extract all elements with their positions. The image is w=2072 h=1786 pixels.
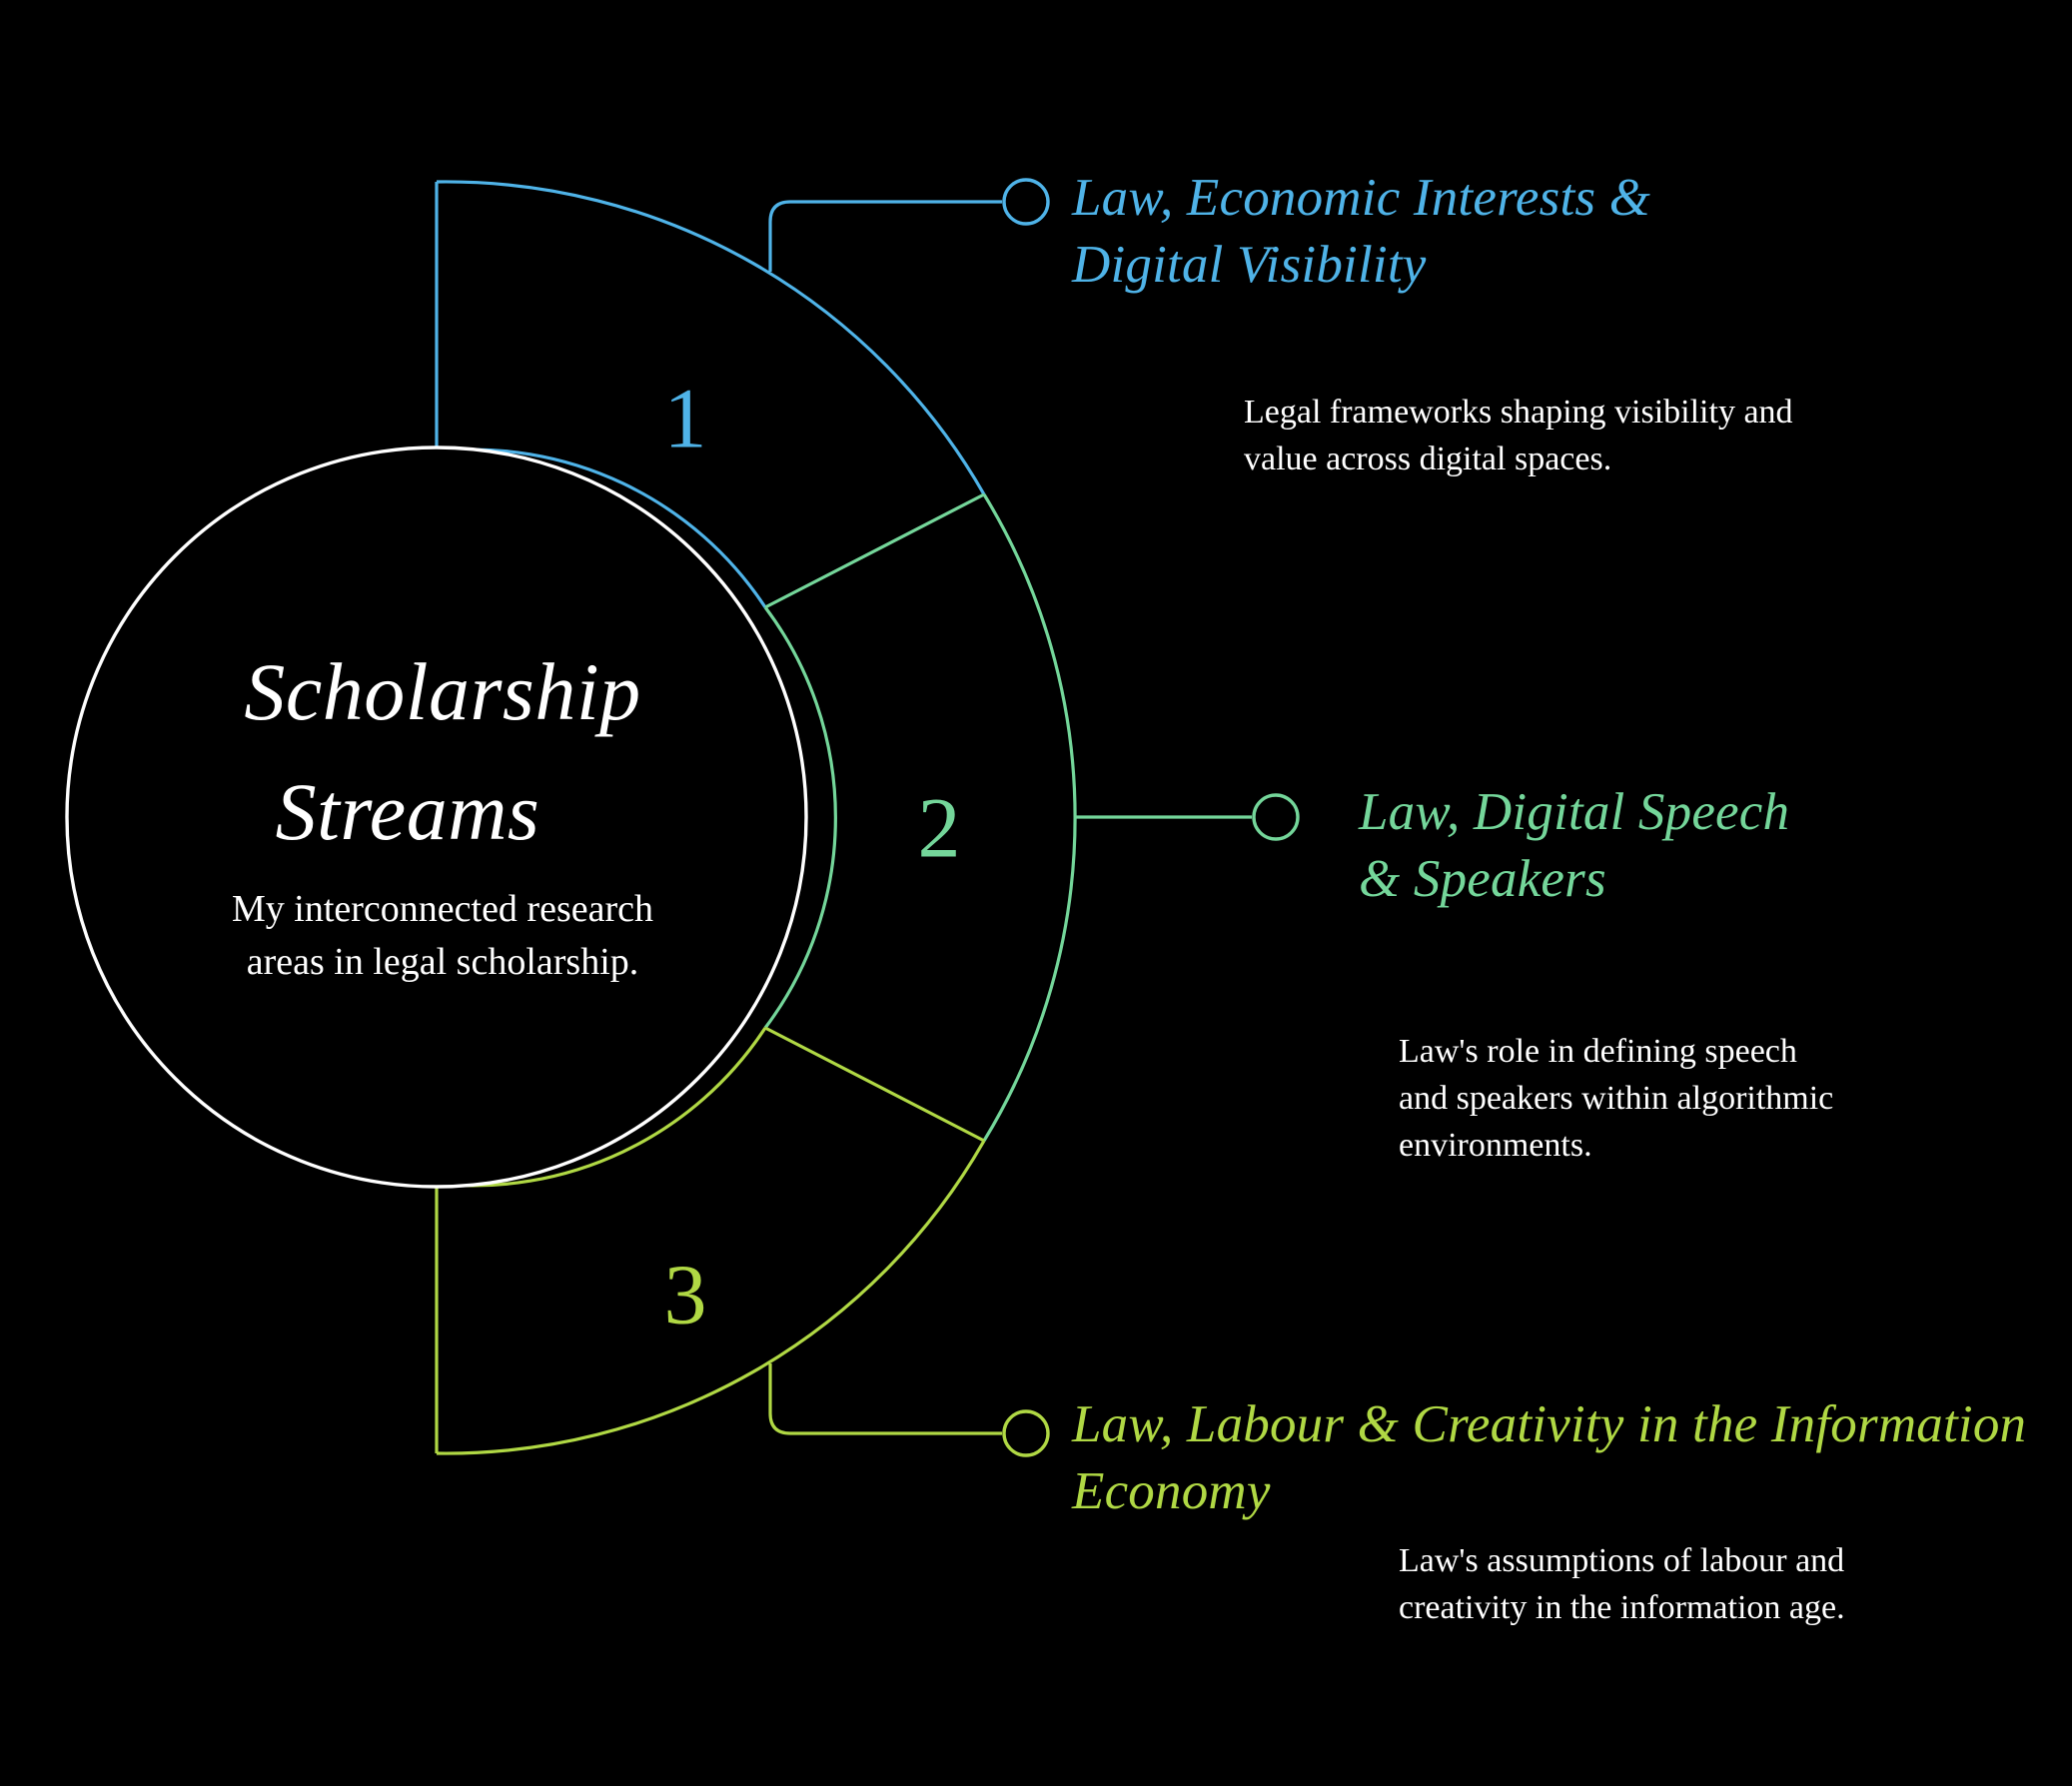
stream-2-title[interactable]: Law, Digital Speech & Speakers [1359, 779, 2058, 913]
hub-subtitle-line-1: My interconnected research [232, 888, 653, 930]
segment-2-node-dot[interactable] [1254, 795, 1298, 839]
segment-2[interactable]: 2 [765, 494, 1298, 1141]
segment-3-node-dot[interactable] [1004, 1411, 1048, 1455]
segment-3-number: 3 [664, 1247, 707, 1342]
stream-1-description: Legal frameworks shaping visibility and … [1244, 390, 2003, 483]
hub[interactable]: Scholarship Streams My interconnected re… [67, 447, 806, 1187]
hub-subtitle-line-2: areas in legal scholarship. [247, 941, 639, 983]
stream-2-description: Law's role in defining speech and speake… [1399, 1029, 2038, 1170]
segment-1-connector [770, 202, 1002, 272]
hub-title-line-2: Streams [276, 766, 540, 857]
segment-2-end-spoke [765, 1028, 984, 1141]
diagram-canvas: 1 2 3 Scholarship Streams [0, 0, 2072, 1786]
segment-2-number: 2 [918, 780, 961, 876]
stream-3-description: Law's assumptions of labour and creativi… [1399, 1538, 2058, 1632]
segment-3-connector [770, 1363, 1002, 1433]
hub-title-line-1: Scholarship [244, 646, 640, 737]
segment-1-outer-arc [437, 182, 984, 494]
segment-1-end-spoke [765, 494, 984, 607]
segment-1-node-dot[interactable] [1004, 180, 1048, 224]
stream-3-title[interactable]: Law, Labour & Creativity in the Informat… [1072, 1391, 2072, 1525]
segment-2-outer-arc [984, 494, 1075, 1141]
stream-1-title[interactable]: Law, Economic Interests & Digital Visibi… [1072, 165, 1831, 299]
segment-1-number: 1 [664, 371, 707, 466]
segment-3-outer-arc [437, 1141, 984, 1453]
